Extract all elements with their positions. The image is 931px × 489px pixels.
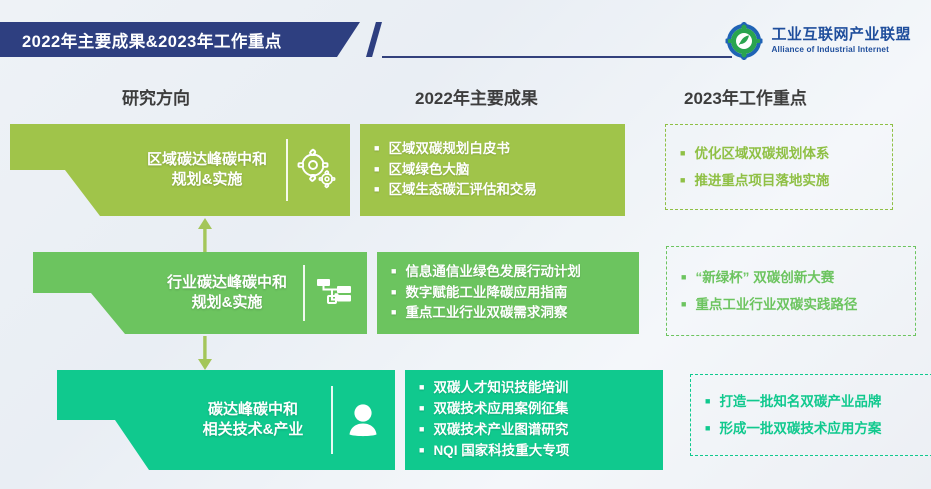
- direction-title-line2: 规划&实施: [138, 170, 276, 190]
- row-02: 行业碳达峰碳中和 规划&实施 02 ■信息通信业绿色发展行动计划 ■数字赋能工业…: [33, 252, 639, 334]
- column-headers: 研究方向 2022年主要成果 2023年工作重点: [0, 84, 931, 114]
- panel-divider-01: [286, 139, 288, 202]
- gears-icon: [294, 146, 342, 194]
- list-item: ■区域生态碳汇评估和交易: [374, 180, 615, 201]
- bullet-icon: ■: [681, 300, 686, 309]
- achievement-text: NQI 国家科技重大专项: [433, 441, 569, 462]
- panel-divider-03: [331, 386, 333, 454]
- priority-text: “新绿杯” 双碳创新大赛: [695, 264, 834, 291]
- priorities-box-01: ■优化区域双碳规划体系 ■推进重点项目落地实施: [665, 124, 893, 210]
- achievements-list-01: ■区域双碳规划白皮书 ■区域绿色大脑 ■区域生态碳汇评估和交易: [374, 139, 615, 202]
- bullet-icon: ■: [374, 185, 379, 194]
- list-item: ■数字赋能工业降碳应用指南: [391, 283, 629, 304]
- direction-title-line1: 碳达峰碳中和: [185, 400, 321, 420]
- column-header-direction: 研究方向: [122, 84, 190, 109]
- list-item: ■双碳人才知识技能培训: [419, 378, 653, 399]
- list-item: ■“新绿杯” 双碳创新大赛: [681, 264, 901, 291]
- achievements-list-03: ■双碳人才知识技能培训 ■双碳技术应用案例征集 ■双碳技术产业图谱研究 ■NQI…: [419, 378, 653, 462]
- bullet-icon: ■: [374, 165, 379, 174]
- bullet-icon: ■: [391, 308, 396, 317]
- bullet-icon: ■: [681, 273, 686, 282]
- achievement-text: 区域绿色大脑: [388, 160, 469, 181]
- direction-panel-02: 行业碳达峰碳中和 规划&实施 02: [33, 252, 367, 334]
- org-logo-text: 工业互联网产业联盟 Alliance of Industrial Interne…: [771, 27, 911, 56]
- list-item: ■双碳技术产业图谱研究: [419, 420, 653, 441]
- achievement-text: 信息通信业绿色发展行动计划: [405, 262, 581, 283]
- priorities-box-02: ■“新绿杯” 双碳创新大赛 ■重点工业行业双碳实践路径: [666, 246, 916, 336]
- priority-text: 打造一批知名双碳产业品牌: [719, 388, 881, 415]
- achievement-text: 双碳技术应用案例征集: [433, 399, 568, 420]
- user-icon: [339, 396, 387, 444]
- column-header-priorities: 2023年工作重点: [684, 84, 807, 109]
- list-item: ■打造一批知名双碳产业品牌: [705, 388, 918, 415]
- bullet-icon: ■: [705, 397, 710, 406]
- achievement-text: 区域生态碳汇评估和交易: [388, 180, 537, 201]
- list-item: ■重点工业行业双碳需求洞察: [391, 303, 629, 324]
- arrow-down-row3: [197, 336, 213, 370]
- achievements-box-02: ■信息通信业绿色发展行动计划 ■数字赋能工业降碳应用指南 ■重点工业行业双碳需求…: [377, 252, 639, 334]
- list-item: ■双碳技术应用案例征集: [419, 399, 653, 420]
- priority-text: 推进重点项目落地实施: [694, 167, 829, 194]
- direction-title-line1: 行业碳达峰碳中和: [161, 273, 293, 293]
- bullet-icon: ■: [419, 425, 424, 434]
- bullet-icon: ■: [374, 144, 379, 153]
- priority-text: 形成一批双碳技术应用方案: [719, 415, 881, 442]
- direction-title-line1: 区域碳达峰碳中和: [138, 150, 276, 170]
- direction-panel-01: 区域碳达峰碳中和 规划&实施: [10, 124, 350, 216]
- org-name-cn: 工业互联网产业联盟: [771, 27, 911, 44]
- row-number-02: 02: [50, 300, 80, 329]
- priorities-box-03: ■打造一批知名双碳产业品牌 ■形成一批双碳技术应用方案: [690, 374, 931, 456]
- direction-title-line2: 规划&实施: [161, 293, 293, 313]
- bullet-icon: ■: [680, 176, 685, 185]
- panel-divider-02: [303, 265, 305, 321]
- title-slash-accent: [366, 22, 382, 57]
- bullet-icon: ■: [680, 149, 685, 158]
- priorities-list-02: ■“新绿杯” 双碳创新大赛 ■重点工业行业双碳实践路径: [681, 264, 901, 318]
- list-item: ■区域双碳规划白皮书: [374, 139, 615, 160]
- org-name-en: Alliance of Industrial Internet: [771, 45, 911, 55]
- achievements-box-01: ■区域双碳规划白皮书 ■区域绿色大脑 ■区域生态碳汇评估和交易: [360, 124, 625, 216]
- priority-text: 优化区域双碳规划体系: [694, 140, 829, 167]
- direction-panel-03: 碳达峰碳中和 相关技术&产业 03: [57, 370, 395, 470]
- list-item: ■信息通信业绿色发展行动计划: [391, 262, 629, 283]
- priority-text: 重点工业行业双碳实践路径: [695, 291, 857, 318]
- achievements-box-03: ■双碳人才知识技能培训 ■双碳技术应用案例征集 ■双碳技术产业图谱研究 ■NQI…: [405, 370, 663, 470]
- bullet-icon: ■: [391, 288, 396, 297]
- priorities-list-01: ■优化区域双碳规划体系 ■推进重点项目落地实施: [680, 140, 878, 194]
- list-item: ■重点工业行业双碳实践路径: [681, 291, 901, 318]
- direction-title-01: 区域碳达峰碳中和 规划&实施: [138, 150, 276, 191]
- gear-leaf-logo-icon: [725, 22, 763, 60]
- list-item: ■区域绿色大脑: [374, 160, 615, 181]
- list-item: ■优化区域双碳规划体系: [680, 140, 878, 167]
- achievement-text: 双碳技术产业图谱研究: [433, 420, 568, 441]
- row-number-01: 01: [24, 180, 54, 209]
- row-number-03: 03: [74, 430, 104, 459]
- list-item: ■推进重点项目落地实施: [680, 167, 878, 194]
- list-item: ■NQI 国家科技重大专项: [419, 441, 653, 462]
- direction-title-line2: 相关技术&产业: [185, 420, 321, 440]
- bullet-icon: ■: [419, 404, 424, 413]
- arrow-up-row1: [197, 218, 213, 252]
- page-header: 2022年主要成果&2023年工作重点: [0, 0, 931, 76]
- achievement-text: 数字赋能工业降碳应用指南: [405, 283, 567, 304]
- page-title-banner: 2022年主要成果&2023年工作重点: [0, 22, 360, 57]
- bullet-icon: ■: [705, 424, 710, 433]
- org-logo: 工业互联网产业联盟 Alliance of Industrial Interne…: [725, 22, 911, 60]
- achievements-list-02: ■信息通信业绿色发展行动计划 ■数字赋能工业降碳应用指南 ■重点工业行业双碳需求…: [391, 262, 629, 325]
- page-title: 2022年主要成果&2023年工作重点: [0, 28, 282, 52]
- direction-title-02: 行业碳达峰碳中和 规划&实施: [161, 273, 293, 314]
- achievement-text: 区域双碳规划白皮书: [388, 139, 510, 160]
- direction-title-03: 碳达峰碳中和 相关技术&产业: [185, 400, 321, 441]
- bullet-icon: ■: [419, 383, 424, 392]
- bullet-icon: ■: [391, 267, 396, 276]
- row-03: 碳达峰碳中和 相关技术&产业 03 ■双碳人才知识技能培训 ■双碳技术应用案例征…: [57, 370, 663, 470]
- sitemap-icon: [311, 269, 359, 317]
- achievement-text: 重点工业行业双碳需求洞察: [405, 303, 567, 324]
- list-item: ■形成一批双碳技术应用方案: [705, 415, 918, 442]
- achievement-text: 双碳人才知识技能培训: [433, 378, 568, 399]
- title-underline: [382, 56, 732, 58]
- priorities-list-03: ■打造一批知名双碳产业品牌 ■形成一批双碳技术应用方案: [705, 388, 918, 442]
- bullet-icon: ■: [419, 446, 424, 455]
- row-01: 区域碳达峰碳中和 规划&实施: [10, 124, 625, 216]
- column-header-achievements: 2022年主要成果: [415, 84, 538, 109]
